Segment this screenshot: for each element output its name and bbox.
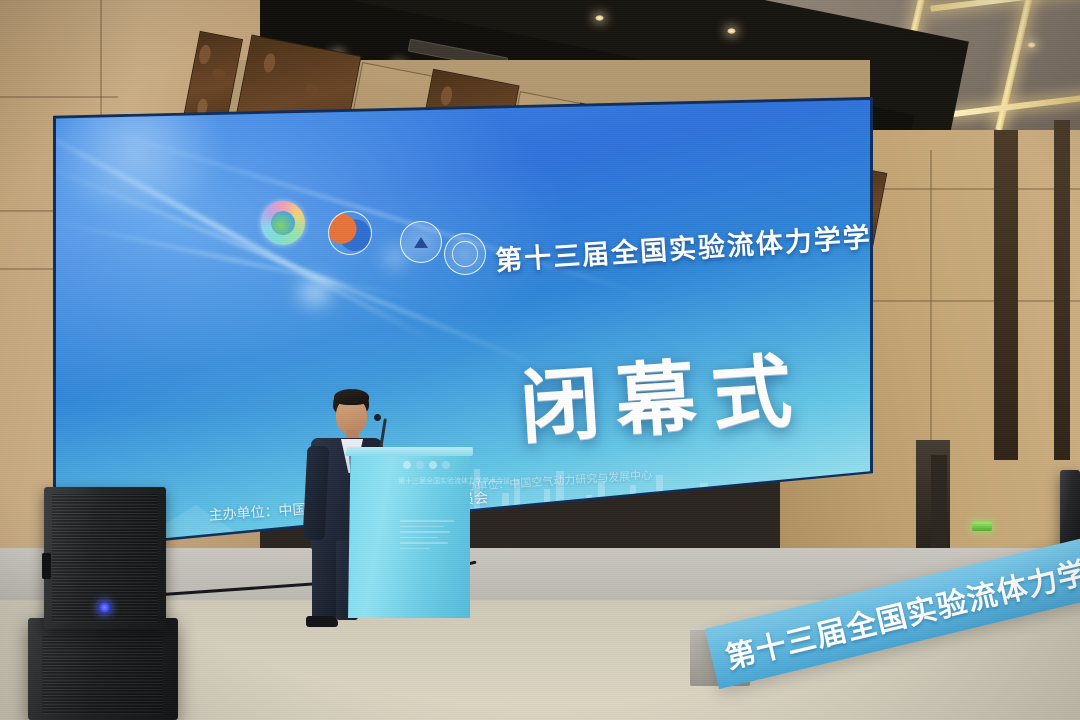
university-seal-logo xyxy=(444,233,486,275)
podium-front-text: 第十三届全国实验流体力学学术会议 xyxy=(398,476,510,486)
podium-line xyxy=(400,520,454,522)
podium-line xyxy=(400,526,444,528)
conference-photo: 第十三届全国实验流体力学学术会议 闭幕式 主办单位：中国力学学会实验力学专业委员… xyxy=(0,0,1080,720)
podium-detail-lines xyxy=(400,520,454,553)
wall-panel-seam xyxy=(862,188,1080,190)
ceiling-downlight xyxy=(727,28,736,34)
pa-brand-badge xyxy=(98,601,111,614)
led-main-title: 闭幕式 xyxy=(516,326,811,460)
emergency-exit-sign xyxy=(972,522,992,531)
wall-panel-seam xyxy=(930,150,932,480)
mountain-circle-logo xyxy=(400,221,442,263)
led-header-title: 第十三届全国实验流体力学学术会议 xyxy=(494,210,870,278)
wall-vertical-trim xyxy=(994,130,1018,460)
podium-line xyxy=(400,537,438,539)
ceiling-downlight xyxy=(595,15,604,21)
presenter-shoe xyxy=(306,616,338,627)
microphone-head xyxy=(374,414,381,421)
podium-top-surface xyxy=(345,447,473,456)
pa-handle xyxy=(42,553,51,579)
doorway-inner xyxy=(931,455,947,551)
triangle-seal-icon xyxy=(414,237,428,248)
podium-logo-dot xyxy=(416,461,424,469)
podium-logo-row xyxy=(403,461,450,469)
podium-logo-dot xyxy=(442,461,450,469)
screen-lens-glow xyxy=(286,277,344,307)
presenter-hair-top xyxy=(334,389,369,405)
podium-line xyxy=(400,548,430,550)
podium-line xyxy=(400,542,448,544)
presenter-leg-left xyxy=(312,540,336,622)
organizer-label-text: 主办单位： xyxy=(208,503,279,523)
ceiling-downlight xyxy=(1027,42,1036,48)
aerospace-rocket-logo xyxy=(328,211,372,255)
swoosh-globe-logo xyxy=(261,201,305,245)
podium-logo-dot xyxy=(403,461,411,469)
pa-subwoofer-grille xyxy=(42,636,162,714)
wall-vertical-trim xyxy=(1054,120,1070,460)
wall-panel-seam xyxy=(862,300,1080,302)
podium-line xyxy=(400,531,450,533)
round-seal-icon xyxy=(452,241,477,266)
podium-logo-dot xyxy=(429,461,437,469)
